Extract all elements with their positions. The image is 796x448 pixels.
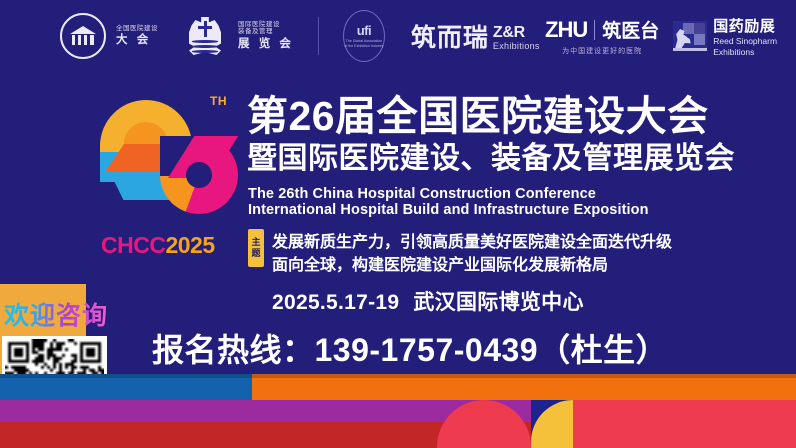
main-title-cn: 第26届全国医院建设大会 xyxy=(247,96,709,137)
sub-title-cn: 暨国际医院建设、装备及管理展览会 xyxy=(247,144,735,174)
medical-snowflake-icon xyxy=(182,13,228,59)
sub-title-en: International Hospital Build and Infrast… xyxy=(248,201,649,220)
logo26-th-superscript: TH xyxy=(210,94,227,108)
logo26-six-hole xyxy=(186,162,212,188)
zr-logo-cn: 筑而瑞 xyxy=(411,18,489,54)
zr-exhibitions-logo: 筑而瑞 Z&R Exhibitions xyxy=(411,18,540,54)
reed-seal-icon xyxy=(673,21,707,51)
event-venue: 武汉国际博览中心 xyxy=(413,291,583,314)
registration-hotline: 报名热线：139-1757-0439（杜生） xyxy=(152,325,668,371)
chcc-wordmark-year: 2025 xyxy=(165,232,214,258)
org-emblem-line1: 全国医院建设 xyxy=(116,25,158,32)
logo-divider xyxy=(318,17,319,55)
reed-logo-cn: 国药励展 xyxy=(713,15,777,36)
chcc-wordmark-letters: CHCC xyxy=(101,232,165,258)
ufi-subtitle: The Global Association of the Exhibition… xyxy=(344,39,384,49)
reed-text: 国药励展 Reed Sinopharm Exhibitions xyxy=(713,15,777,57)
med-emblem-line2: 装备及管理 xyxy=(238,28,294,35)
event-date-venue: 2025.5.17-19武汉国际博览中心 xyxy=(272,286,584,316)
zhu-tagline: 为中国建设更好的医院 xyxy=(545,46,659,56)
ufi-logo-icon: ufi The Global Association of the Exhibi… xyxy=(343,10,385,62)
poster-root: 全国医院建设 大 会 国际医院建设 装备及管理 展 览 会 ufi The Gl… xyxy=(0,0,796,448)
theme-badge-char1: 主 xyxy=(251,238,260,247)
med-emblem-text: 国际医院建设 装备及管理 展 览 会 xyxy=(238,21,294,51)
ufi-mark: ufi xyxy=(357,23,371,38)
theme-badge-char2: 题 xyxy=(251,249,260,258)
reed-logo-en1: Reed Sinopharm xyxy=(713,36,777,47)
reed-sinopharm-logo: 国药励展 Reed Sinopharm Exhibitions xyxy=(673,15,777,57)
med-emblem-line3: 展 览 会 xyxy=(238,38,294,51)
reed-logo-en2: Exhibitions xyxy=(713,47,777,58)
theme-badge: 主 题 xyxy=(248,229,264,267)
logo-bar: 全国医院建设 大 会 国际医院建设 装备及管理 展 览 会 ufi The Gl… xyxy=(0,0,796,72)
theme-line-2: 面向全球，构建医院建设产业国际化发展新格局 xyxy=(272,251,608,275)
zhu-mark: ZHU xyxy=(545,17,587,43)
theme-line-1: 发展新质生产力，引领高质量美好医院建设全面迭代升级 xyxy=(272,228,672,252)
bottom-color-bands xyxy=(0,374,796,448)
welcome-inquiry-text: 欢迎咨询 xyxy=(4,296,108,332)
zhu-divider xyxy=(594,20,595,40)
zr-logo-en-big: Z&R xyxy=(493,24,525,41)
logo-group-right: ZHU 筑医台 为中国建设更好的医院 国药励展 Reed Sinopharm E… xyxy=(545,14,777,58)
anniversary-26-logo: TH xyxy=(98,92,248,222)
chcc-wordmark: CHCC2025 xyxy=(101,232,215,259)
event-date: 2025.5.17-19 xyxy=(272,291,399,314)
band-pink-block xyxy=(573,400,796,448)
org-emblem-line2: 大 会 xyxy=(116,34,158,47)
chcc-org-emblem-icon xyxy=(60,13,106,59)
band-top-shadow xyxy=(0,374,796,378)
zhuyitai-logo: ZHU 筑医台 为中国建设更好的医院 xyxy=(545,16,659,56)
zr-logo-en: Z&R Exhibitions xyxy=(493,25,540,54)
org-emblem-text: 全国医院建设 大 会 xyxy=(116,25,158,48)
zhu-logo-cn: 筑医台 xyxy=(602,16,659,43)
logo-group-left: 全国医院建设 大 会 国际医院建设 装备及管理 展 览 会 ufi The Gl… xyxy=(60,10,540,62)
zr-logo-en-small: Exhibitions xyxy=(493,42,540,51)
